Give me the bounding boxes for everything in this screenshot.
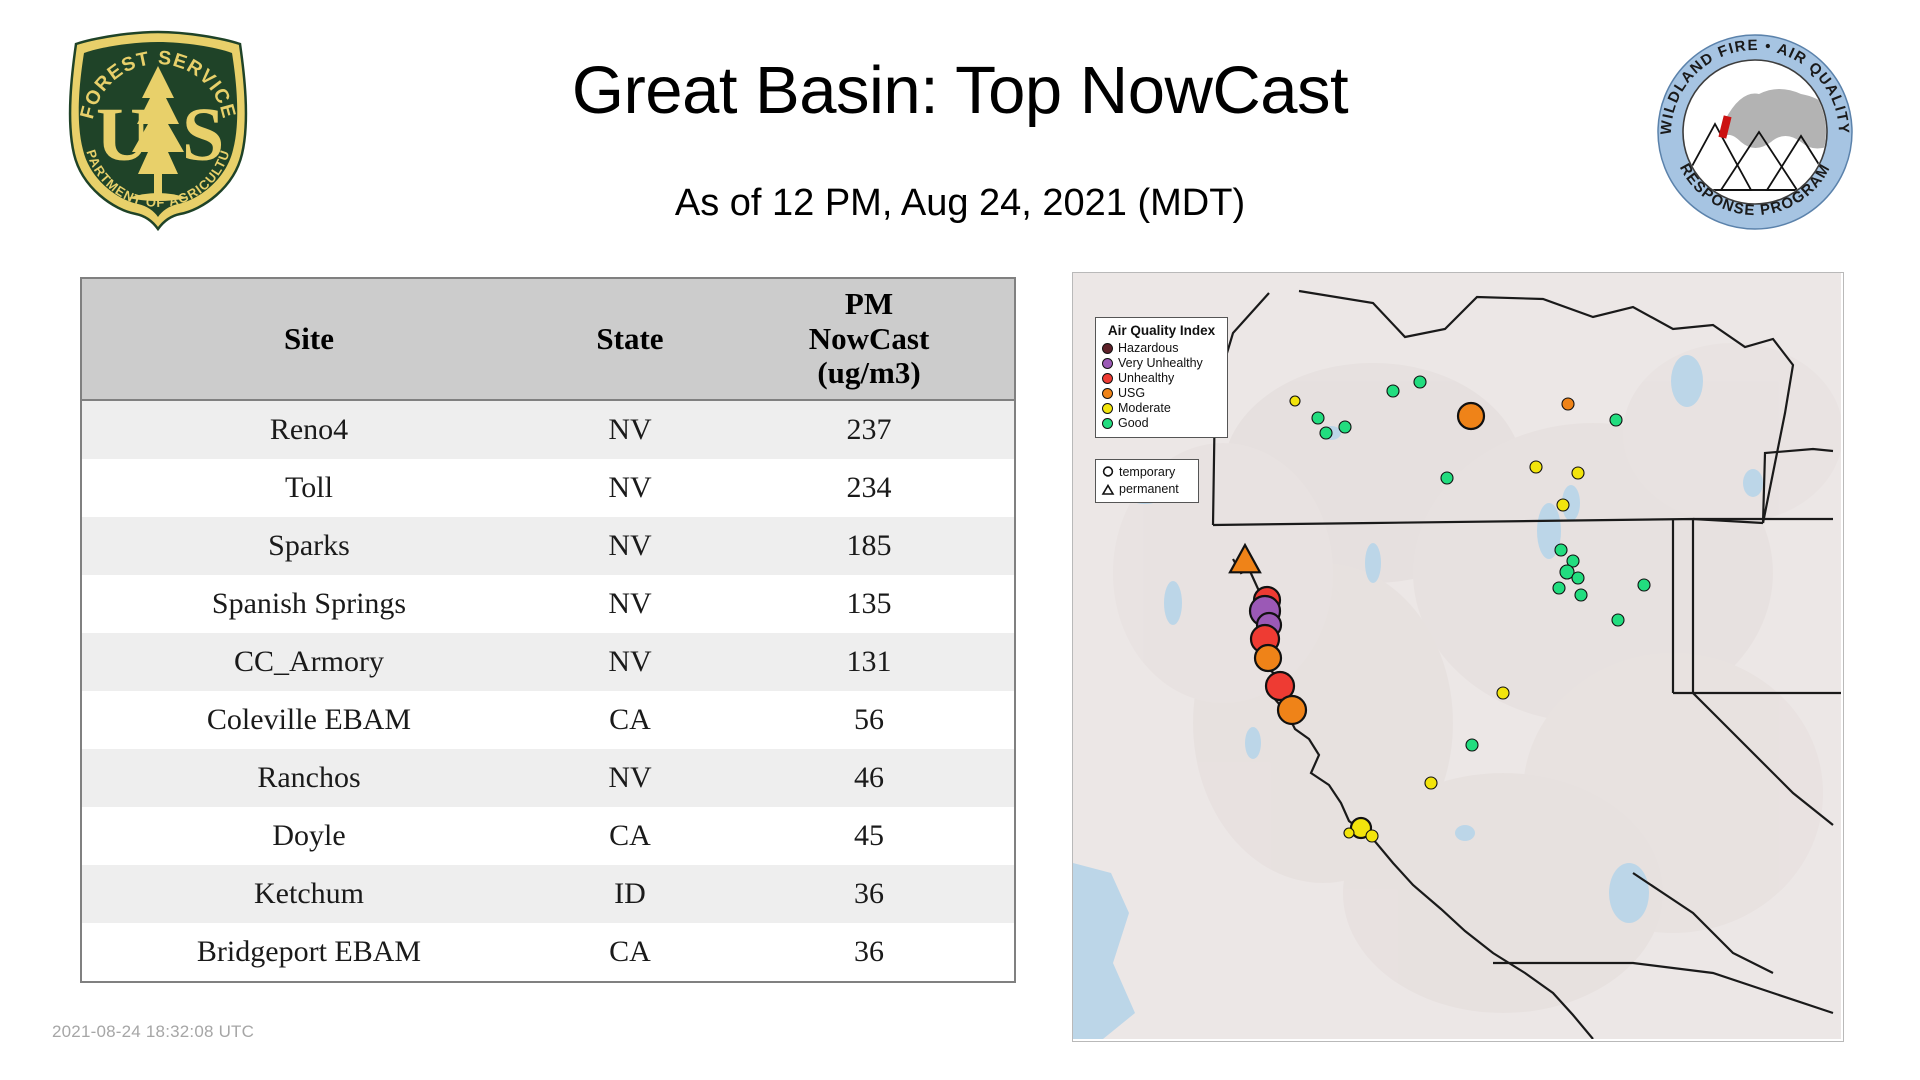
usfs-shield-logo: FOREST SERVICE U S DEPARTMENT OF AGRICUL… [58, 28, 258, 233]
cell-site: Toll [81, 459, 536, 517]
cell-state: NV [536, 575, 724, 633]
monitor-marker-temporary[interactable] [1290, 396, 1300, 406]
cell-value: 131 [724, 633, 1015, 691]
cell-site: Ketchum [81, 865, 536, 923]
cell-site: Reno4 [81, 400, 536, 459]
usfs-shield-svg: FOREST SERVICE U S DEPARTMENT OF AGRICUL… [58, 28, 258, 233]
shape-legend-label-permanent: permanent [1119, 482, 1179, 497]
cell-state: NV [536, 749, 724, 807]
cell-site: Spanish Springs [81, 575, 536, 633]
cell-state: NV [536, 400, 724, 459]
wfaqrp-logo: WILDLAND FIRE • AIR QUALITY RESPONSE PRO… [1655, 32, 1855, 232]
aqi-swatch-icon [1102, 403, 1113, 414]
monitor-marker-temporary[interactable] [1387, 385, 1399, 397]
monitor-marker-temporary[interactable] [1466, 739, 1478, 751]
monitor-marker-temporary[interactable] [1339, 421, 1351, 433]
table-row: CC_ArmoryNV131 [81, 633, 1015, 691]
cell-state: NV [536, 517, 724, 575]
monitor-marker-temporary[interactable] [1255, 645, 1281, 671]
table-header-row: Site State PM NowCast (ug/m3) [81, 278, 1015, 400]
aqi-legend-row: Moderate [1102, 401, 1221, 416]
cell-site: Bridgeport EBAM [81, 923, 536, 982]
nowcast-table-container: Site State PM NowCast (ug/m3) Reno4NV237… [80, 277, 992, 983]
aqi-legend-row: Unhealthy [1102, 371, 1221, 386]
monitor-marker-temporary[interactable] [1555, 544, 1567, 556]
monitor-marker-permanent[interactable] [1230, 545, 1260, 572]
cell-value: 185 [724, 517, 1015, 575]
cell-value: 36 [724, 923, 1015, 982]
aqi-swatch-icon [1102, 343, 1113, 354]
aqi-swatch-icon [1102, 388, 1113, 399]
table-head: Site State PM NowCast (ug/m3) [81, 278, 1015, 400]
cell-value: 56 [724, 691, 1015, 749]
aqi-legend-label: Very Unhealthy [1118, 356, 1203, 371]
monitor-marker-temporary[interactable] [1562, 398, 1574, 410]
circle-icon [1101, 466, 1115, 480]
wfaqrp-logo-svg: WILDLAND FIRE • AIR QUALITY RESPONSE PRO… [1655, 32, 1855, 232]
table-body: Reno4NV237TollNV234SparksNV185Spanish Sp… [81, 400, 1015, 982]
monitor-marker-temporary[interactable] [1575, 589, 1587, 601]
cell-state: ID [536, 865, 724, 923]
monitor-marker-temporary[interactable] [1557, 499, 1569, 511]
cell-site: Sparks [81, 517, 536, 575]
cell-state: CA [536, 923, 724, 982]
monitor-marker-temporary[interactable] [1414, 376, 1426, 388]
aqi-legend-row: Very Unhealthy [1102, 356, 1221, 371]
monitor-marker-temporary[interactable] [1366, 830, 1378, 842]
cell-value: 36 [724, 865, 1015, 923]
aqi-legend-row: USG [1102, 386, 1221, 401]
monitor-marker-temporary[interactable] [1610, 414, 1622, 426]
monitor-marker-temporary[interactable] [1530, 461, 1542, 473]
table-row: DoyleCA45 [81, 807, 1015, 865]
monitor-marker-temporary[interactable] [1458, 403, 1484, 429]
monitor-marker-temporary[interactable] [1572, 572, 1584, 584]
monitor-marker-temporary[interactable] [1441, 472, 1453, 484]
monitor-marker-temporary[interactable] [1320, 427, 1332, 439]
cell-value: 45 [724, 807, 1015, 865]
monitor-marker-temporary[interactable] [1553, 582, 1565, 594]
shape-legend-row-permanent: permanent [1101, 481, 1193, 498]
monitor-marker-temporary[interactable] [1278, 696, 1306, 724]
cell-state: NV [536, 633, 724, 691]
table-row: RanchosNV46 [81, 749, 1015, 807]
shape-legend: temporary permanent [1095, 459, 1199, 503]
aqi-legend-title: Air Quality Index [1102, 323, 1221, 338]
aqi-legend-row: Good [1102, 416, 1221, 431]
aqi-legend-items: HazardousVery UnhealthyUnhealthyUSGModer… [1102, 341, 1221, 431]
pm-label-line1: PM [845, 286, 893, 321]
footer-timestamp: 2021-08-24 18:32:08 UTC [52, 1022, 254, 1042]
aqi-legend: Air Quality Index HazardousVery Unhealth… [1095, 317, 1228, 438]
aqi-legend-label: Unhealthy [1118, 371, 1174, 386]
shape-legend-row-temporary: temporary [1101, 464, 1193, 481]
cell-value: 234 [724, 459, 1015, 517]
air-quality-map[interactable]: Air Quality Index HazardousVery Unhealth… [1072, 272, 1844, 1042]
cell-value: 46 [724, 749, 1015, 807]
cell-value: 237 [724, 400, 1015, 459]
page-subtitle: As of 12 PM, Aug 24, 2021 (MDT) [260, 182, 1660, 225]
cell-site: CC_Armory [81, 633, 536, 691]
pm-label-line3: (ug/m3) [817, 355, 920, 390]
cell-state: CA [536, 807, 724, 865]
table-row: Spanish SpringsNV135 [81, 575, 1015, 633]
pm-label-line2: NowCast [809, 321, 930, 356]
aqi-swatch-icon [1102, 418, 1113, 429]
column-header-pm-nowcast: PM NowCast (ug/m3) [724, 278, 1015, 400]
aqi-legend-label: Hazardous [1118, 341, 1178, 356]
table-row: KetchumID36 [81, 865, 1015, 923]
aqi-legend-label: USG [1118, 386, 1145, 401]
cell-site: Coleville EBAM [81, 691, 536, 749]
aqi-swatch-icon [1102, 373, 1113, 384]
table-row: Coleville EBAMCA56 [81, 691, 1015, 749]
nowcast-table: Site State PM NowCast (ug/m3) Reno4NV237… [80, 277, 1016, 983]
monitor-marker-temporary[interactable] [1497, 687, 1509, 699]
monitor-marker-temporary[interactable] [1312, 412, 1324, 424]
monitor-marker-temporary[interactable] [1425, 777, 1437, 789]
monitor-marker-temporary[interactable] [1638, 579, 1650, 591]
table-row: TollNV234 [81, 459, 1015, 517]
aqi-legend-label: Good [1118, 416, 1149, 431]
monitor-marker-temporary[interactable] [1572, 467, 1584, 479]
page-title: Great Basin: Top NowCast [260, 52, 1660, 129]
cell-site: Doyle [81, 807, 536, 865]
triangle-icon [1101, 483, 1115, 497]
table-row: Bridgeport EBAMCA36 [81, 923, 1015, 982]
shape-legend-label-temporary: temporary [1119, 465, 1175, 480]
cell-site: Ranchos [81, 749, 536, 807]
aqi-legend-label: Moderate [1118, 401, 1171, 416]
column-header-state: State [536, 278, 724, 400]
column-header-site: Site [81, 278, 536, 400]
monitor-marker-temporary[interactable] [1344, 828, 1354, 838]
table-row: Reno4NV237 [81, 400, 1015, 459]
monitor-marker-temporary[interactable] [1612, 614, 1624, 626]
cell-state: NV [536, 459, 724, 517]
aqi-swatch-icon [1102, 358, 1113, 369]
aqi-legend-row: Hazardous [1102, 341, 1221, 356]
table-row: SparksNV185 [81, 517, 1015, 575]
cell-value: 135 [724, 575, 1015, 633]
cell-state: CA [536, 691, 724, 749]
